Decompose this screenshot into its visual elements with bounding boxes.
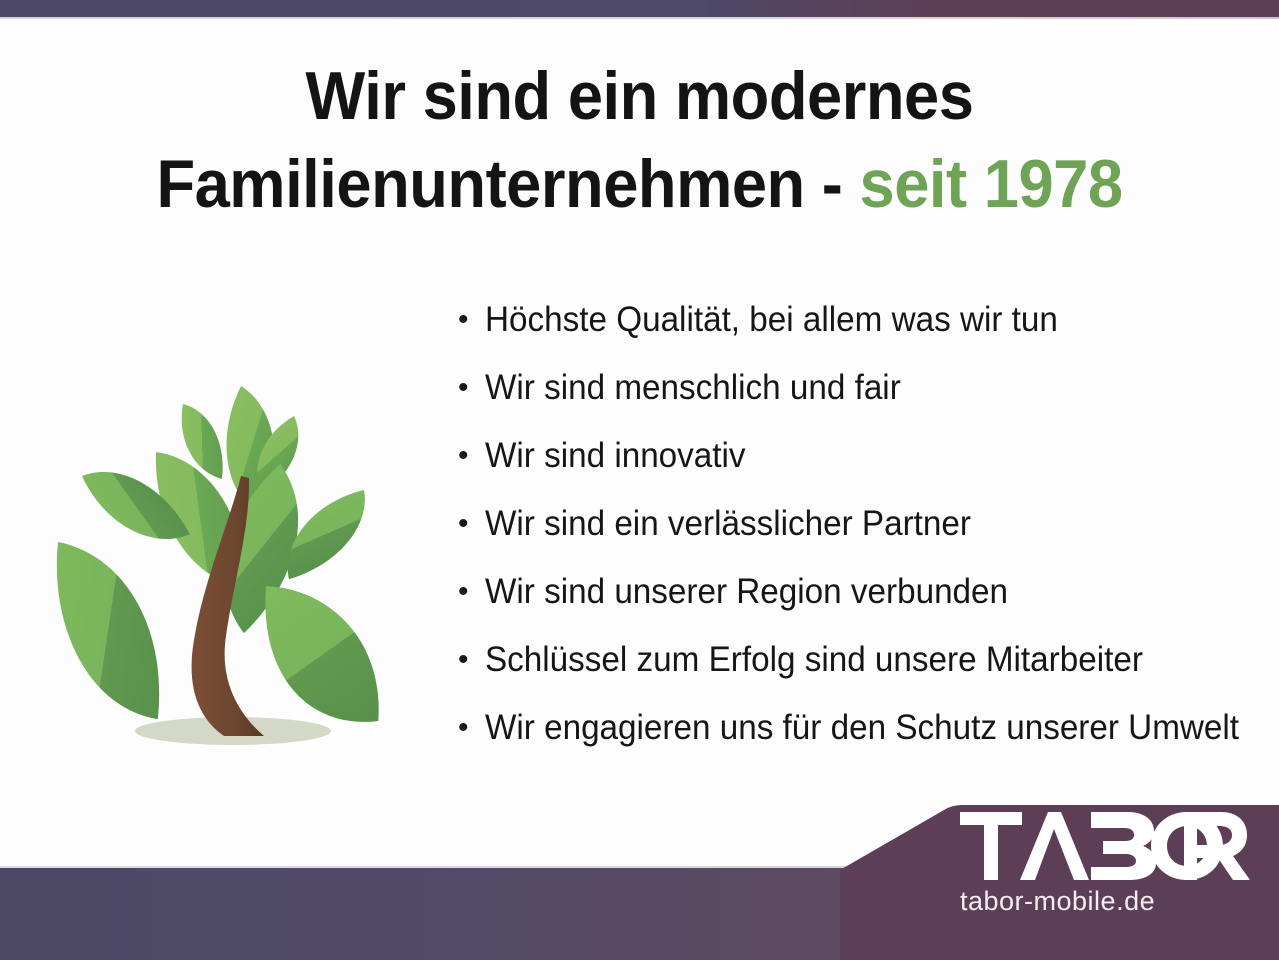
logo-letter-R [1184, 812, 1250, 880]
list-item-label: Wir sind ein verlässlicher Partner [485, 502, 971, 546]
page-title: Wir sind ein modernes Familienunternehme… [45, 52, 1234, 228]
bullet-icon: • [458, 645, 485, 675]
list-item-label: Wir engagieren uns für den Schutz unsere… [485, 706, 1239, 750]
list-item: • Höchste Qualität, bei allem was wir tu… [458, 298, 1268, 366]
bullet-icon: • [458, 577, 485, 607]
list-item-label: Wir sind unserer Region verbunden [485, 570, 1008, 614]
bullet-icon: • [458, 509, 485, 539]
logo-letter-A [1020, 812, 1089, 880]
logo-letter-T [960, 812, 1022, 880]
list-item-label: Höchste Qualität, bei allem was wir tun [485, 298, 1058, 342]
brand-logo[interactable]: tabor-mobile.de [960, 812, 1260, 918]
headline-line-1: Wir sind ein modernes [45, 52, 1234, 140]
leaf-lower-right [249, 585, 395, 724]
list-item: • Wir sind menschlich und fair [458, 366, 1268, 434]
tree-illustration [28, 328, 432, 760]
bullet-icon: • [458, 373, 485, 403]
logo-letter-B [1091, 812, 1156, 880]
list-item: • Wir sind unserer Region verbunden [458, 570, 1268, 638]
value-list: • Höchste Qualität, bei allem was wir tu… [458, 298, 1268, 774]
bullet-icon: • [458, 713, 485, 743]
list-item: • Wir sind ein verlässlicher Partner [458, 502, 1268, 570]
list-item-label: Schlüssel zum Erfolg sind unsere Mitarbe… [485, 638, 1143, 682]
list-item-label: Wir sind innovativ [485, 434, 746, 478]
bullet-icon: • [458, 305, 485, 335]
list-item: • Wir engagieren uns für den Schutz unse… [458, 706, 1268, 774]
bullet-icon: • [458, 441, 485, 471]
headline-accent: seit 1978 [860, 146, 1123, 222]
headline-line-2-plain: Familienunternehmen - [156, 146, 859, 222]
top-accent-bar [0, 0, 1279, 17]
list-item: • Wir sind innovativ [458, 434, 1268, 502]
top-accent-bar-shadow [0, 17, 1279, 19]
logo-website: tabor-mobile.de [960, 884, 1260, 918]
list-item: • Schlüssel zum Erfolg sind unsere Mitar… [458, 638, 1268, 706]
list-item-label: Wir sind menschlich und fair [485, 366, 901, 410]
headline-line-2: Familienunternehmen - seit 1978 [45, 140, 1234, 228]
logo-wordmark [960, 812, 1260, 880]
leaf-lower-left [45, 526, 171, 736]
slide-canvas: Wir sind ein modernes Familienunternehme… [0, 0, 1279, 960]
